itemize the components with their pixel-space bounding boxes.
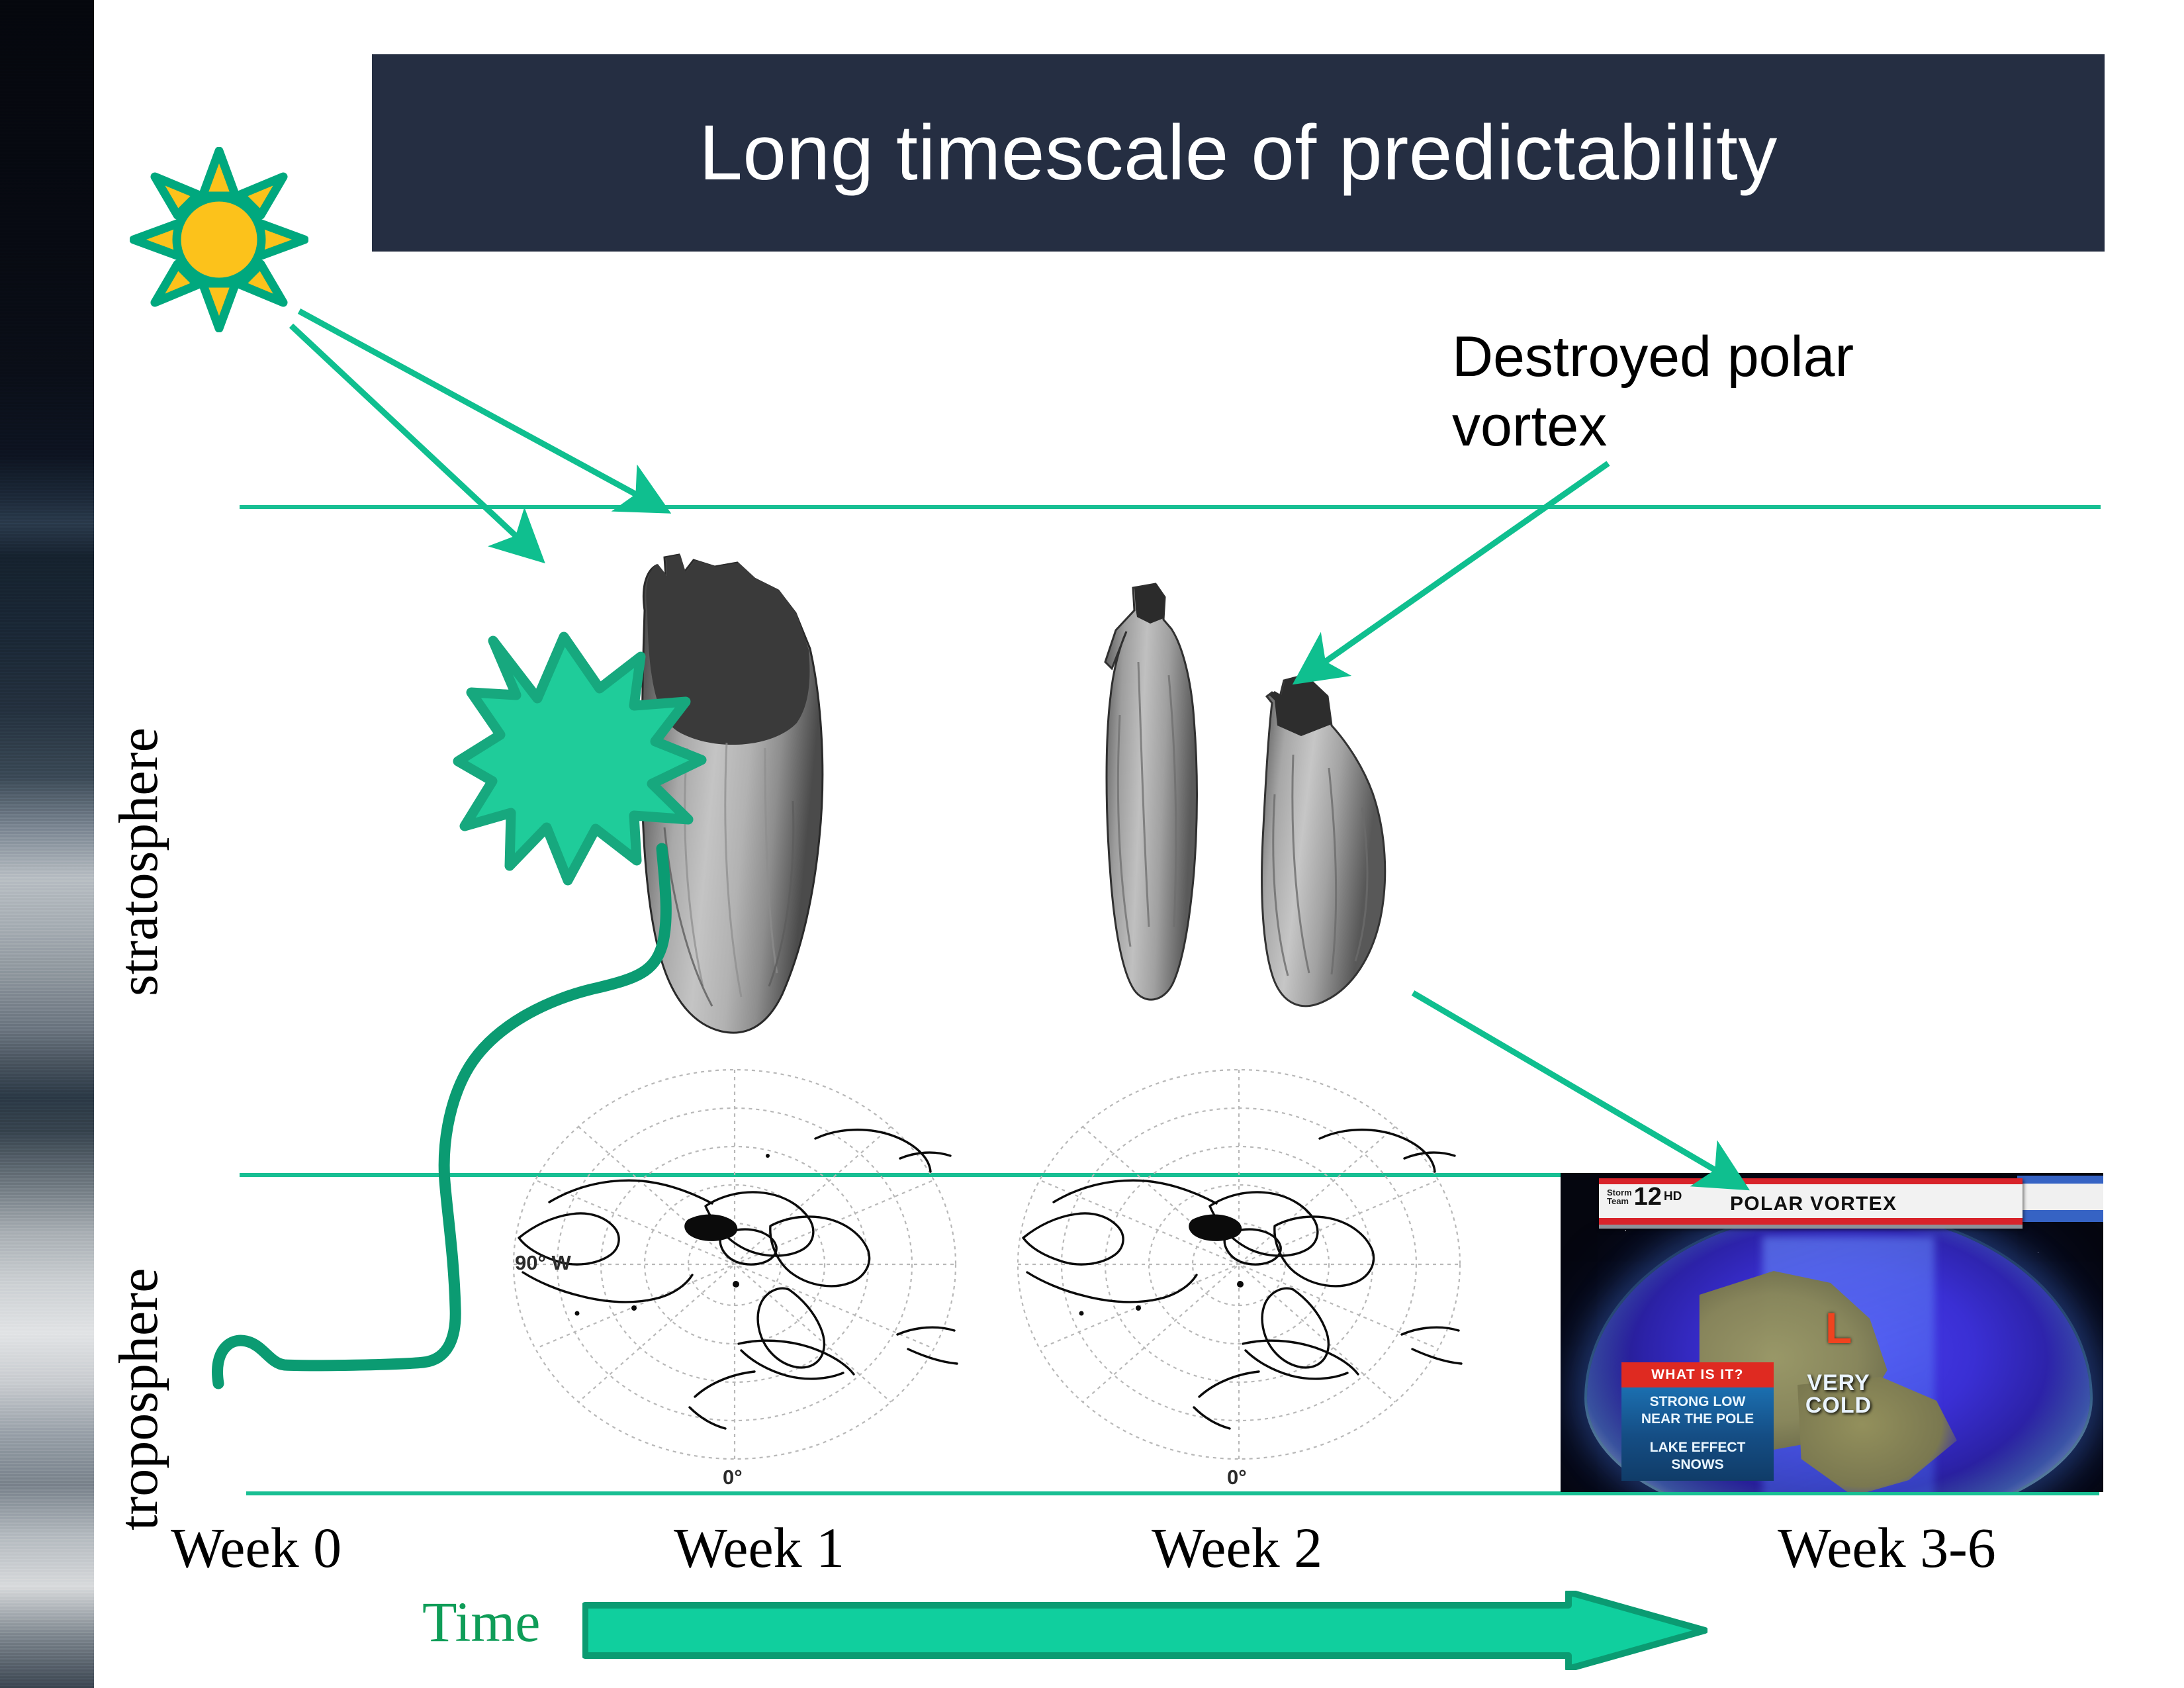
lower-third-tail bbox=[2017, 1176, 2103, 1222]
channel-number: 12 bbox=[1634, 1186, 1662, 1207]
sun-icon bbox=[130, 147, 308, 332]
very-cold-label: VERY COLD bbox=[1779, 1372, 1898, 1417]
info-box-header: WHAT IS IT? bbox=[1621, 1362, 1774, 1387]
station-logo: Storm Team 12 HD bbox=[1607, 1186, 1682, 1207]
weather-info-box: WHAT IS IT? STRONG LOW NEAR THE POLE LAK… bbox=[1621, 1362, 1774, 1481]
vortex-week-1 bbox=[615, 549, 847, 1039]
tick-label-week-0: Week 0 bbox=[171, 1515, 341, 1581]
hd-badge: HD bbox=[1664, 1190, 1682, 1204]
time-axis-label: Time bbox=[422, 1589, 540, 1655]
polar-map-week-2: 0° bbox=[1007, 1039, 1471, 1489]
slide-title-bar: Long timescale of predictability bbox=[372, 54, 2105, 252]
weather-broadcast-panel: L VERY COLD Storm Team 12 HD POLAR VORTE… bbox=[1561, 1173, 2103, 1492]
axis-label-troposphere: troposphere bbox=[107, 1268, 171, 1530]
vortex-week-2-lobe-b bbox=[1257, 662, 1396, 1019]
sun-ray-arrow-2 bbox=[291, 326, 537, 556]
time-direction-arrow bbox=[582, 1591, 1707, 1670]
tick-label-week-2: Week 2 bbox=[1152, 1515, 1322, 1581]
destroyed-vortex-arrow bbox=[1301, 463, 1608, 679]
vortex-week-2-lobe-a bbox=[1100, 583, 1219, 1006]
sun-ray-arrow-1 bbox=[299, 311, 662, 508]
slide-canvas: Long timescale of predictability Destroy… bbox=[0, 0, 2184, 1688]
lower-third-banner: Storm Team 12 HD POLAR VORTEX bbox=[1599, 1178, 2023, 1229]
stratosphere-top-line bbox=[240, 505, 2101, 509]
low-pressure-marker: L bbox=[1825, 1303, 1852, 1353]
axis-label-stratosphere: stratosphere bbox=[107, 727, 171, 996]
destroyed-vortex-label: Destroyed polar vortex bbox=[1452, 322, 1854, 461]
tick-label-week-3-6: Week 3-6 bbox=[1778, 1515, 1996, 1581]
broadcast-headline: POLAR VORTEX bbox=[1730, 1193, 1897, 1215]
info-box-line-2: LAKE EFFECT SNOWS bbox=[1621, 1435, 1774, 1481]
info-box-line-1: STRONG LOW NEAR THE POLE bbox=[1621, 1387, 1774, 1435]
polar-map-left-label-text: 90° W bbox=[515, 1251, 571, 1274]
polar-map-week-1: 90° W 0° bbox=[503, 1039, 966, 1489]
tick-label-week-1: Week 1 bbox=[674, 1515, 844, 1581]
svg-text:0°: 0° bbox=[1227, 1466, 1247, 1489]
svg-text:0°: 0° bbox=[723, 1466, 743, 1489]
earth-satellite-strip bbox=[0, 0, 94, 1688]
station-name-line2: Team bbox=[1607, 1197, 1632, 1205]
page-title: Long timescale of predictability bbox=[699, 108, 1778, 198]
